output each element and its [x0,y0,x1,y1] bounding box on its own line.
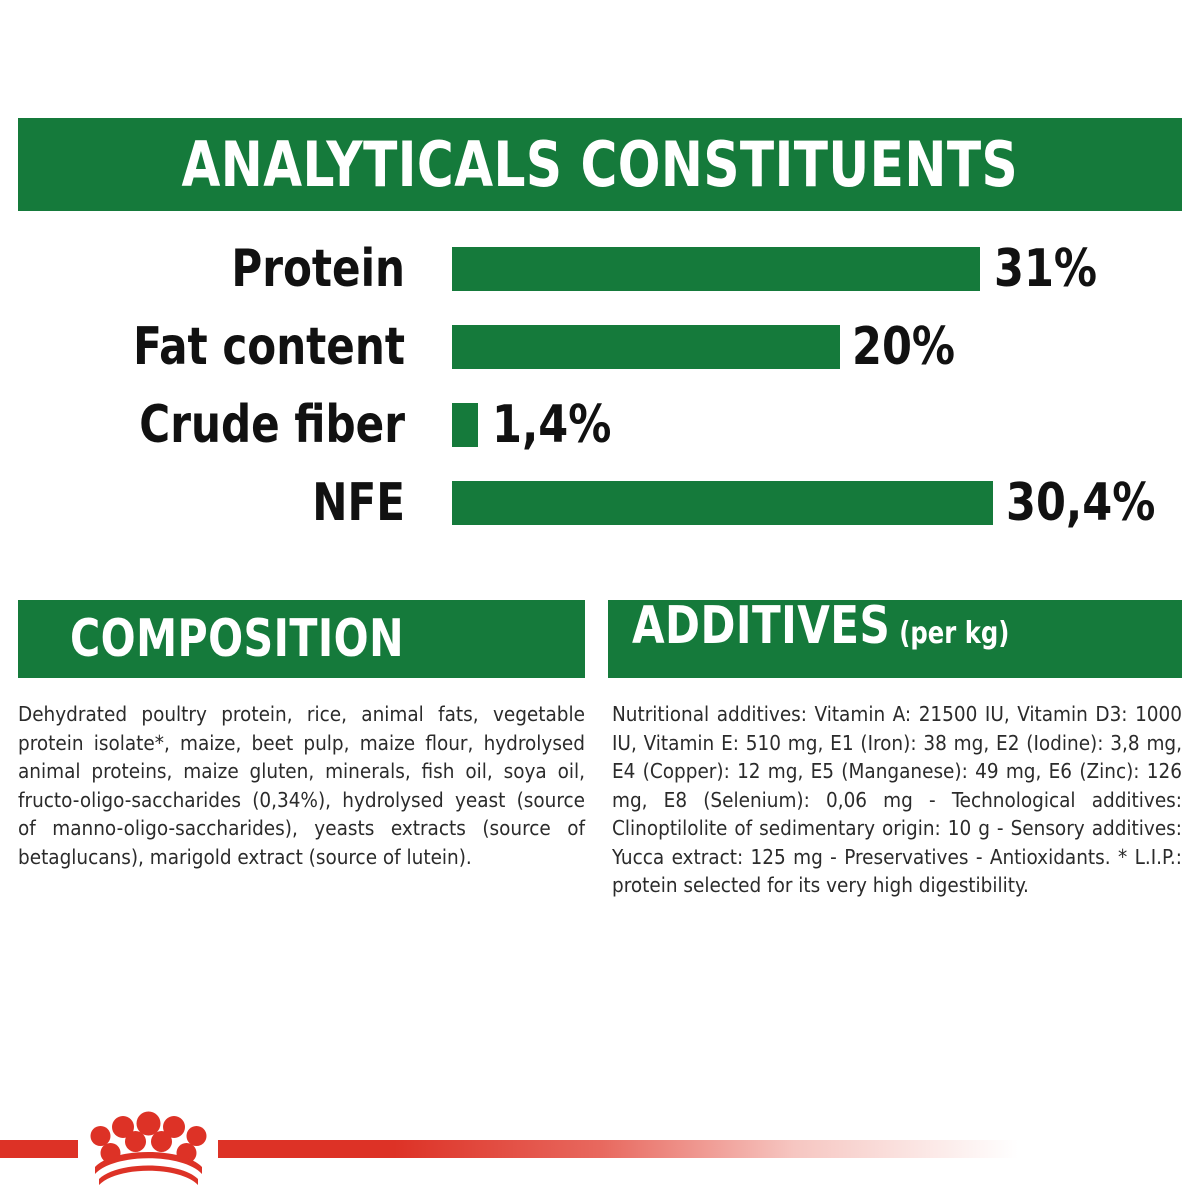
bar-label-crude-fiber: Crude fiber [68,399,406,451]
analyticals-constituents-header: ANALYTICALS CONSTITUENTS [18,118,1182,211]
chart-row: Protein 31% [0,232,1200,306]
royal-canin-crown-icon [86,1108,211,1188]
nutrition-panel: ANALYTICALS CONSTITUENTS Protein 31% Fat… [0,0,1200,1200]
bar-fill-nfe [452,481,993,525]
bar-value-crude-fiber: 1,4% [492,399,611,451]
chart-row: Fat content 20% [0,310,1200,384]
chart-row: Crude fiber 1,4% [0,388,1200,462]
bar-label-nfe: NFE [68,477,406,529]
composition-header: COMPOSITION [18,600,585,678]
additives-heading-suffix: (per kg) [899,619,1009,649]
bar-value-protein: 31% [994,243,1097,295]
bar-label-fat-content: Fat content [68,321,406,373]
footer-rule-left [0,1140,78,1158]
additives-heading: ADDITIVES [632,600,890,652]
additives-body-text: Nutritional additives: Vitamin A: 21500 … [612,700,1182,900]
chart-row: NFE 30,4% [0,466,1200,540]
bar-fill-protein [452,247,980,291]
composition-body-text: Dehydrated poultry protein, rice, animal… [18,700,585,871]
footer-rule-right [218,1140,1018,1158]
analyticals-bar-chart: Protein 31% Fat content 20% Crude fiber … [0,232,1200,542]
additives-header: ADDITIVES (per kg) [608,600,1182,678]
page-title: ANALYTICALS CONSTITUENTS [182,134,1019,196]
bar-fill-fat-content [452,325,840,369]
footer [0,1100,1200,1200]
bar-fill-crude-fiber [452,403,478,447]
composition-heading: COMPOSITION [70,613,404,665]
bar-value-nfe: 30,4% [1006,477,1155,529]
bar-label-protein: Protein [68,243,406,295]
bar-value-fat-content: 20% [852,321,955,373]
